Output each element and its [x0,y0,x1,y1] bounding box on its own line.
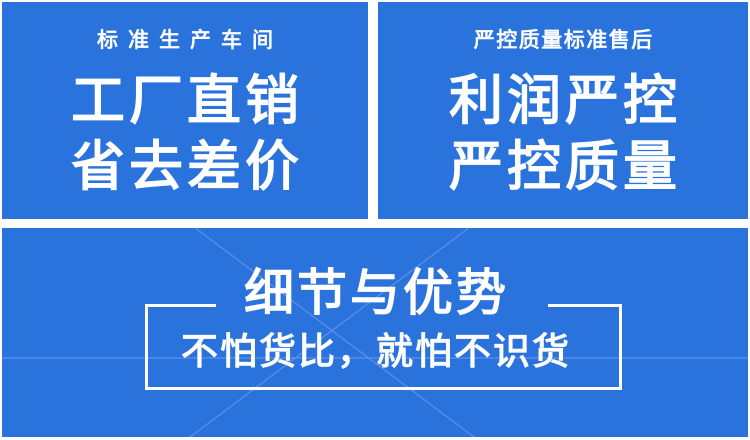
panel-factory-direct: 标准生产车间 工厂直销 省去差价 [2,2,368,219]
panel-factory-direct-content: 标准生产车间 工厂直销 省去差价 [2,2,368,219]
title-details-advantages: 细节与优势 [2,268,748,318]
panel-quality-control-content: 严控质量标准售后 利润严控 严控质量 [378,2,748,219]
panel-details-advantages: 细节与优势 不怕货比，就怕不识货 [2,228,748,437]
headline-quality-control-line2: 严控质量 [378,140,748,194]
subtitle-compare-goods: 不怕货比，就怕不识货 [2,333,748,370]
headline-quality-control-line1: 利润严控 [378,74,748,128]
eyebrow-quality-aftersales: 严控质量标准售后 [378,30,748,51]
eyebrow-standard-workshop: 标准生产车间 [2,30,368,51]
headline-factory-direct-line1: 工厂直销 [2,74,368,128]
headline-factory-direct-line2: 省去差价 [2,140,368,194]
promo-banner: 标准生产车间 工厂直销 省去差价 严控质量标准售后 利润严控 严控质量 细节与优… [0,0,750,440]
panel-quality-control: 严控质量标准售后 利润严控 严控质量 [378,2,748,219]
panel-details-advantages-content: 细节与优势 不怕货比，就怕不识货 [2,228,748,437]
